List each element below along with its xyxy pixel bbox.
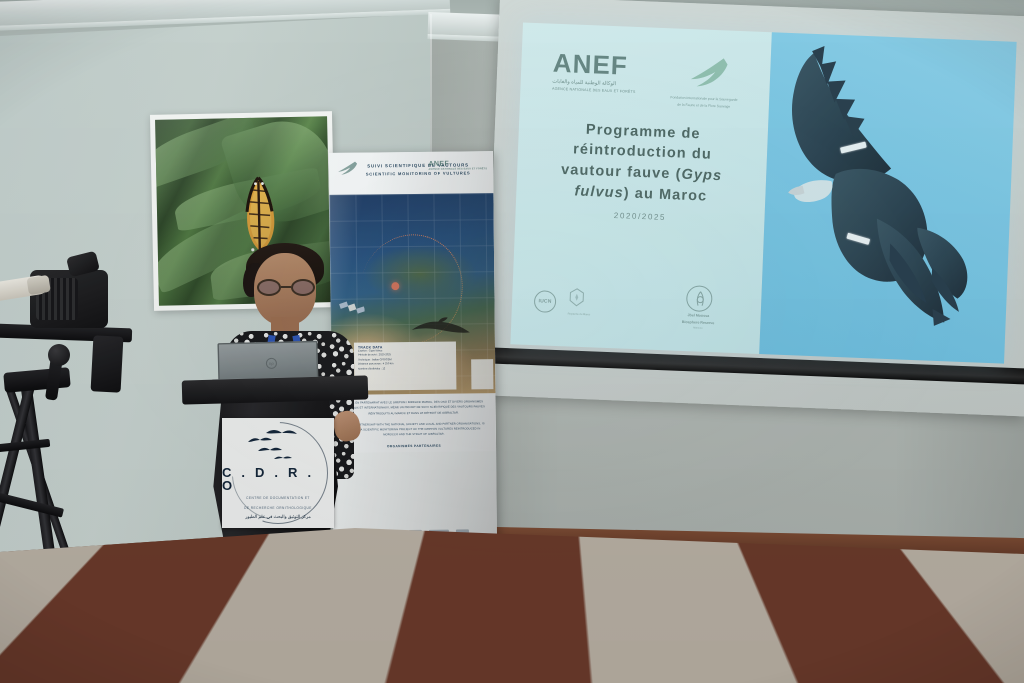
tripod-spreader (0, 439, 50, 453)
slide-title-species: fulvus (574, 183, 624, 201)
reserve-caption-1: Jbel Moussa (682, 313, 715, 319)
map-location-pin (391, 282, 399, 290)
slide-left-panel: ANEF الوكالة الوطنية للمياه والغابات AGE… (510, 22, 771, 354)
griffon-vulture-icon (759, 38, 1016, 357)
hp-logo-icon: hp (266, 358, 277, 369)
partner-logo: Fondation Internationale pour la Sauvega… (670, 54, 739, 110)
slide-title-line-4: ) au Maroc (623, 185, 707, 204)
gov-logo-caption: Royaume du Maroc (568, 313, 591, 318)
banner-heading-en: SCIENTIFIC MONITORING OF VULTURES (349, 170, 487, 179)
tripod-leg (20, 381, 73, 680)
footer-logos-left: IUCN Royaume du Maroc (512, 286, 592, 318)
lectern-base (202, 646, 346, 666)
tilt-knob[interactable] (48, 344, 70, 366)
slide-title: Programme de réintroduction du vautour f… (515, 117, 768, 227)
footer-logos-right: Jbel Moussa Biosphere Reserve Morocco (682, 285, 762, 332)
banner-vulture-icon (409, 313, 471, 340)
slide-title-line-3: vautour fauve ( (561, 162, 682, 183)
slide-vulture-photo (759, 32, 1016, 363)
reserve-mark (686, 286, 713, 313)
anef-wordmark: ANEF (553, 50, 638, 79)
partner-caption-2: de la Faune et de la Flore Sauvage (670, 102, 737, 110)
glasses-bridge (281, 286, 291, 288)
banner-gull-icon (335, 161, 359, 176)
cdro-sign: C . D . R . O CENTRE DE DOCUMENTATION ET… (222, 418, 334, 528)
projection-screen: ANEF الوكالة الوطنية للمياه والغابات AGE… (484, 0, 1024, 416)
banner-anef-logo: ANEF AGENCE NATIONALE DES EAUX ET FORÊTS (428, 160, 487, 171)
slide-title-genus: Gyps (681, 167, 722, 185)
morocco-crest-icon (568, 288, 586, 308)
anef-logo: ANEF الوكالة الوطنية للمياه والغابات AGE… (552, 50, 637, 95)
camera-rig (0, 252, 176, 683)
iucn-label: IUCN (535, 291, 556, 312)
tripod-brace (0, 491, 64, 517)
map-legend-box-secondary (471, 359, 493, 389)
lectern-desktop (182, 375, 369, 404)
slide-title-line-1: Programme de (586, 122, 701, 142)
lectern: C . D . R . O CENTRE DE DOCUMENTATION ET… (180, 378, 370, 683)
map-legend-line: Nombre d'individus : 12 (358, 366, 452, 371)
banner-anef-sub: AGENCE NATIONALE DES EAUX ET FORÊTS (428, 167, 487, 171)
eyeglasses-icon (256, 279, 316, 296)
presentation-room-photo: ANEF الوكالة الوطنية للمياه والغابات AGE… (0, 0, 1024, 683)
projected-slide: ANEF الوكالة الوطنية للمياه والغابات AGE… (510, 22, 1016, 363)
banner-header: SUIVI SCIENTIFIQUE DE VAUTOURS SCIENTIFI… (329, 151, 493, 195)
gov-logo: Royaume du Maroc (568, 288, 592, 317)
reserve-caption-sub: Morocco (682, 326, 715, 330)
slide-title-line-2: réintroduction du (573, 142, 712, 163)
iucn-icon: IUCN (534, 290, 557, 313)
biosphere-reserve-icon (686, 285, 713, 312)
slide-footer-logos: IUCN Royaume du Maroc (511, 278, 762, 332)
lens-right (291, 279, 315, 296)
slide-year-range: 2020/2025 (527, 207, 752, 227)
gull-icon (676, 55, 733, 91)
lens-left (257, 279, 281, 296)
laptop-screen[interactable]: hp (217, 341, 318, 381)
camera-battery (91, 335, 124, 392)
slide-logo-row: ANEF الوكالة الوطنية للمياه والغابات AGE… (520, 48, 771, 111)
